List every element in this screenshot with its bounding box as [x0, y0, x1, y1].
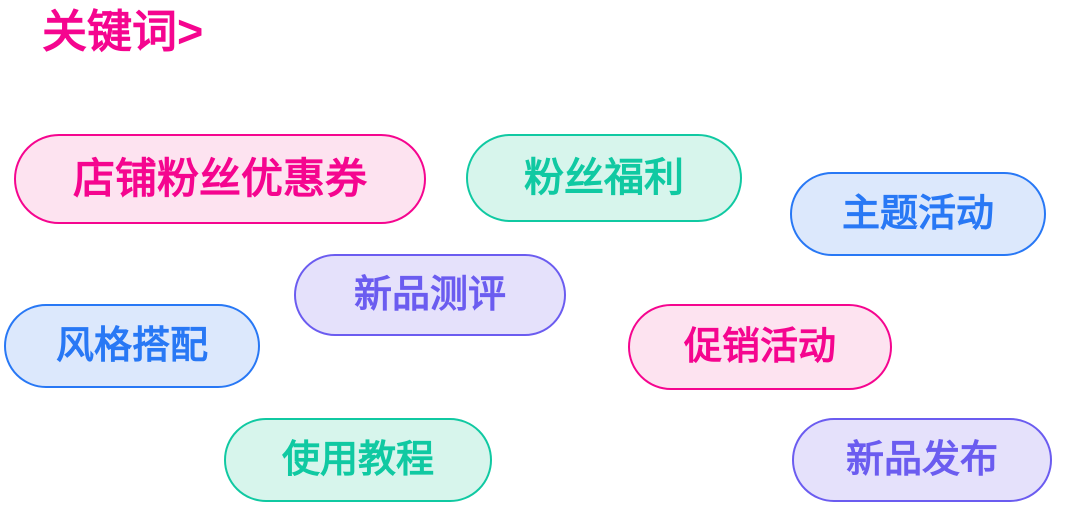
page-title: 关键词> — [42, 6, 203, 58]
keyword-tag[interactable]: 新品测评 — [294, 254, 566, 336]
keyword-tag[interactable]: 主题活动 — [790, 172, 1046, 256]
keyword-tag[interactable]: 粉丝福利 — [466, 134, 742, 222]
keyword-tag-label: 风格搭配 — [56, 327, 208, 365]
keyword-tag[interactable]: 风格搭配 — [4, 304, 260, 388]
keyword-tag-label: 使用教程 — [282, 441, 434, 479]
keyword-tag[interactable]: 使用教程 — [224, 418, 492, 502]
keyword-tag-label: 新品发布 — [846, 441, 998, 479]
keyword-tag[interactable]: 促销活动 — [628, 304, 892, 390]
keyword-tag-label: 店铺粉丝优惠券 — [73, 158, 367, 200]
keyword-tag-label: 促销活动 — [684, 328, 836, 366]
keyword-tag[interactable]: 店铺粉丝优惠券 — [14, 134, 426, 224]
keyword-tag[interactable]: 新品发布 — [792, 418, 1052, 502]
keyword-panel: 关键词> 店铺粉丝优惠券粉丝福利主题活动新品测评风格搭配促销活动使用教程新品发布 — [0, 0, 1080, 516]
keyword-tag-label: 主题活动 — [842, 195, 994, 233]
keyword-tag-label: 新品测评 — [354, 276, 506, 314]
keyword-tag-label: 粉丝福利 — [524, 158, 684, 198]
